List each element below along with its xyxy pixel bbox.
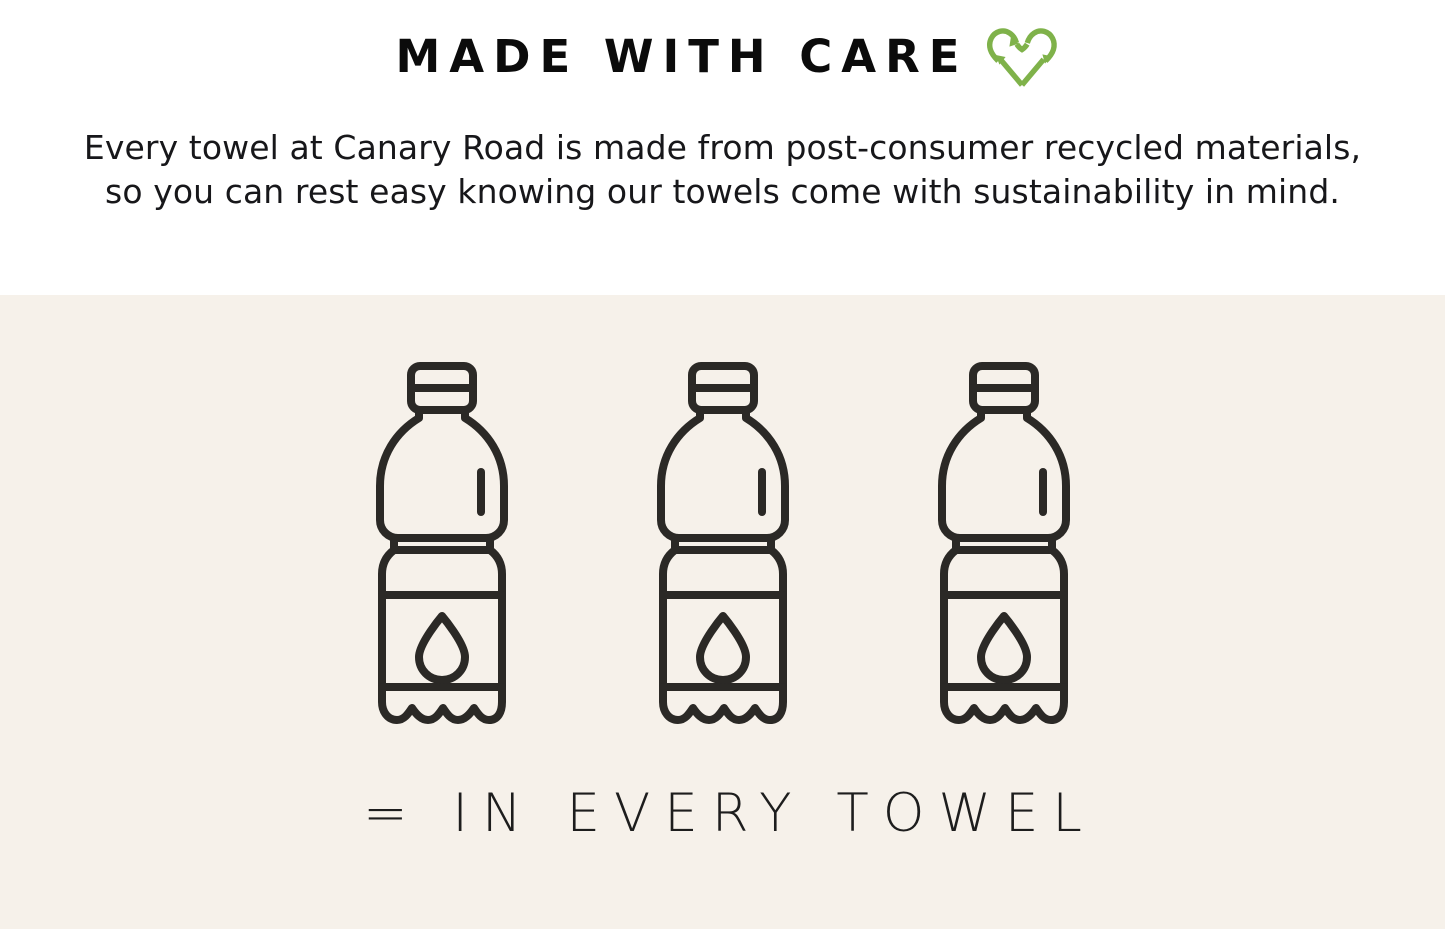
water-drop-icon: [981, 616, 1027, 680]
headline-row: MADE WITH CARE: [0, 22, 1445, 92]
impact-section: = IN EVERY TOWEL: [0, 295, 1445, 929]
water-bottle-icon: [653, 360, 793, 735]
made-with-care-banner: MADE WITH CARE: [0, 0, 1445, 929]
bottle-row: [0, 360, 1445, 735]
equation-caption: = IN EVERY TOWEL: [0, 783, 1445, 844]
recycle-heart-icon: [985, 22, 1059, 92]
page-title: MADE WITH CARE: [386, 33, 968, 80]
intro-section: MADE WITH CARE: [0, 0, 1445, 295]
water-bottle-icon: [372, 360, 512, 735]
water-drop-icon: [700, 616, 746, 680]
intro-paragraph: Every towel at Canary Road is made from …: [73, 126, 1373, 214]
water-drop-icon: [419, 616, 465, 680]
water-bottle-icon: [934, 360, 1074, 735]
